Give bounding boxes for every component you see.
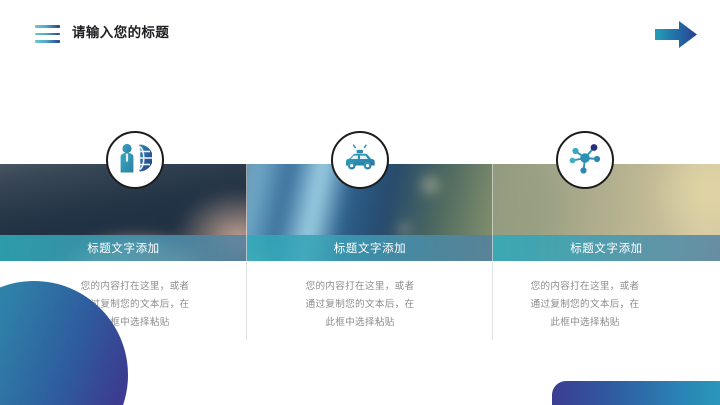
body-line: 此框中选择粘贴 — [270, 314, 450, 332]
menu-bar-2 — [35, 33, 60, 36]
hamburger-menu-icon[interactable] — [35, 25, 60, 43]
caption-label-2: 标题文字添加 — [334, 241, 407, 255]
caption-label-3: 标题文字添加 — [570, 241, 643, 255]
decorative-bar-bottom-right — [552, 381, 720, 405]
body-line: 通过复制您的文本后，在 — [495, 296, 675, 314]
icon-circle-2[interactable] — [331, 131, 389, 189]
icon-circle-1[interactable] — [106, 131, 164, 189]
column-divider-2-lower — [492, 261, 493, 340]
slide-header: 请输入您的标题 — [0, 0, 720, 68]
arrow-right-icon[interactable] — [655, 20, 697, 49]
body-text-2: 您的内容打在这里，或者 通过复制您的文本后，在 此框中选择粘贴 — [270, 278, 450, 332]
caption-band-2: 标题文字添加 — [247, 235, 493, 261]
caption-label-1: 标题文字添加 — [87, 241, 160, 255]
page-title: 请输入您的标题 — [72, 23, 169, 43]
body-line: 此框中选择粘贴 — [495, 314, 675, 332]
caption-band-1: 标题文字添加 — [0, 235, 247, 261]
icon-circle-3[interactable] — [556, 131, 614, 189]
slide-canvas: 请输入您的标题 标题文字 — [0, 0, 720, 405]
caption-band-3: 标题文字添加 — [493, 235, 720, 261]
network-nodes-icon — [568, 141, 602, 179]
column-divider-1-lower — [246, 261, 247, 340]
car-icon — [343, 144, 377, 176]
body-text-3: 您的内容打在这里，或者 通过复制您的文本后，在 此框中选择粘贴 — [495, 278, 675, 332]
body-line: 您的内容打在这里，或者 — [270, 278, 450, 296]
body-line: 您的内容打在这里，或者 — [495, 278, 675, 296]
businessman-globe-icon — [118, 142, 152, 178]
menu-bar-1 — [35, 25, 60, 28]
menu-bar-3 — [35, 40, 60, 43]
body-line: 通过复制您的文本后，在 — [270, 296, 450, 314]
